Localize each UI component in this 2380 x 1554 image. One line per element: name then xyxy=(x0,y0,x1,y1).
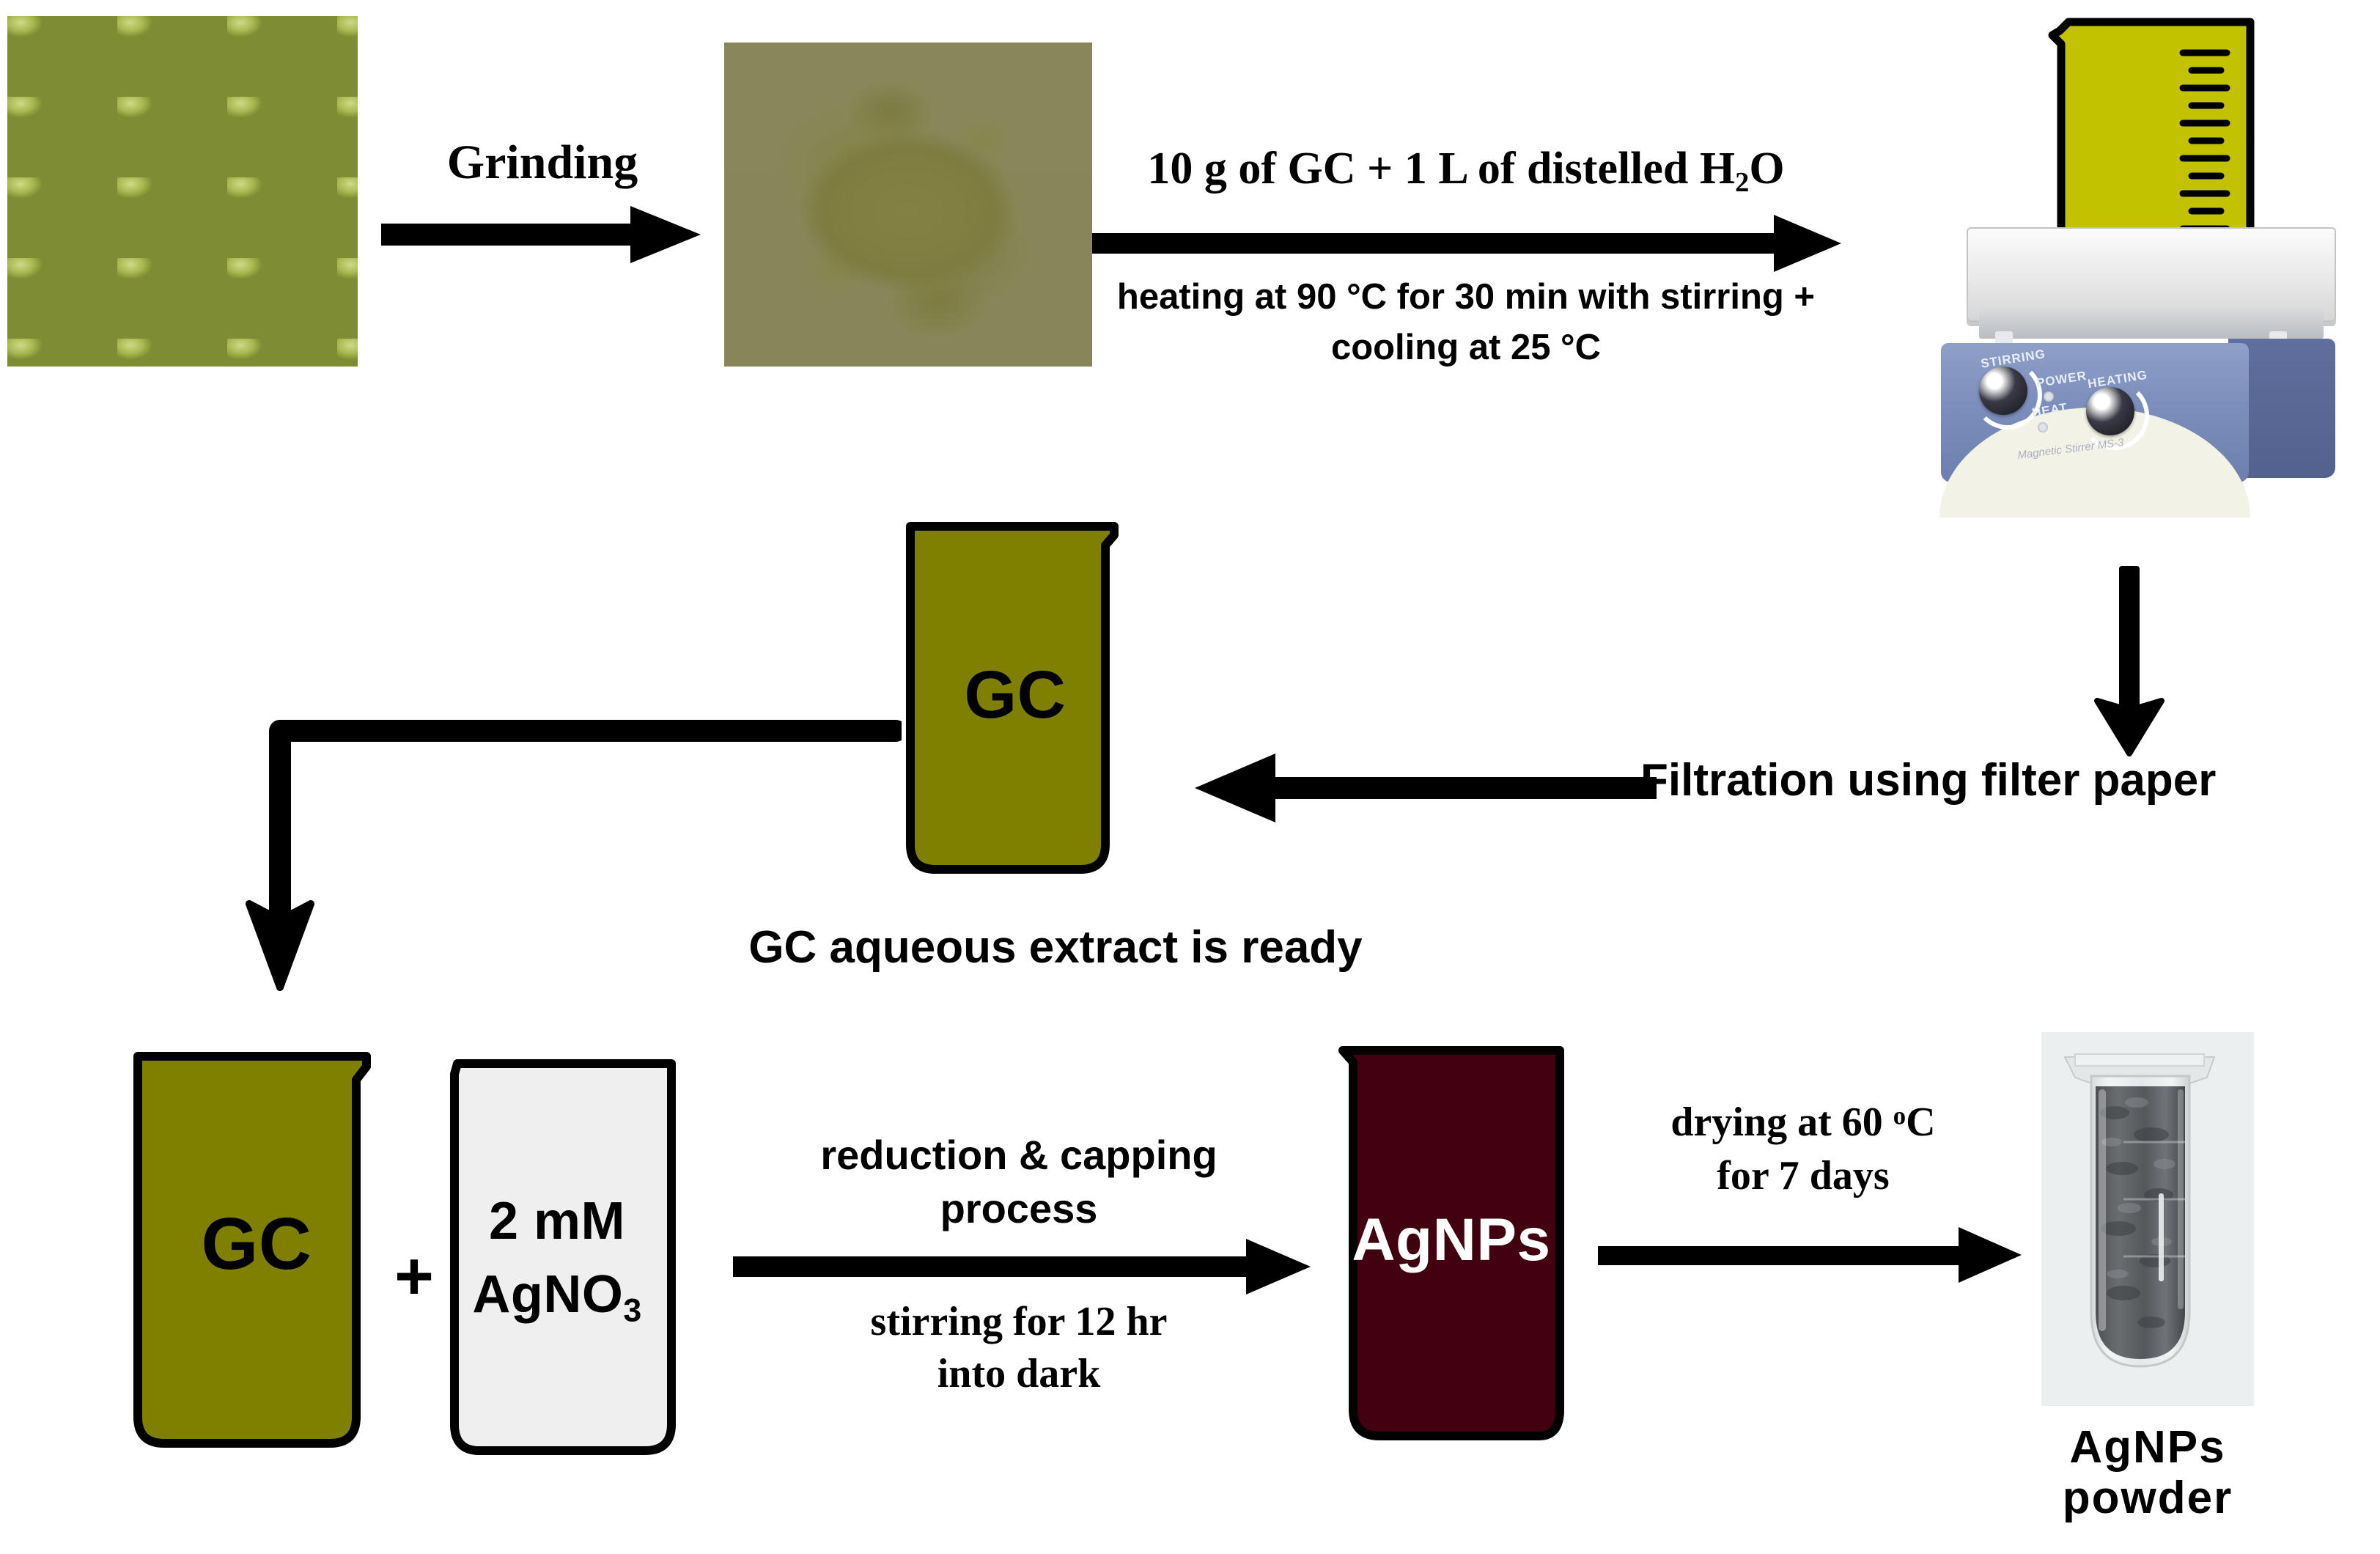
beaker-agno3: 2 mM AgNO3 xyxy=(425,1052,689,1462)
heat-led xyxy=(2038,422,2048,432)
grinding-arrow xyxy=(381,202,704,268)
extraction-label-above-tail: O xyxy=(1749,144,1784,194)
green-coffee-beans-photo xyxy=(7,16,358,367)
beaker-gc-reaction-label: GC xyxy=(125,1202,388,1286)
power-led xyxy=(2044,391,2054,402)
beaker-gc-reaction: GC xyxy=(125,1045,388,1455)
extraction-label-below: heating at 90 °C for 30 min with stirrin… xyxy=(1099,277,1832,368)
agnps-powder-caption: AgNPs powder xyxy=(2023,1422,2272,1524)
drying-arrow xyxy=(1598,1224,2023,1286)
extraction-label-above-sub: 2 xyxy=(1735,167,1749,198)
extract-to-reaction-connector xyxy=(242,715,902,1008)
drying-label-line2: for 7 days xyxy=(1598,1153,2008,1199)
beaker-agnps: AgNPs xyxy=(1327,1037,1576,1448)
drying-label-line1: drying at 60 oC xyxy=(1598,1100,2008,1146)
filtration-label-text: Filtration using filter paper xyxy=(1640,755,2373,806)
drying-label-line1-pre: drying at 60 xyxy=(1670,1100,1893,1145)
reduction-arrow xyxy=(733,1236,1312,1297)
extraction-label-above: 10 g of GC + 1 L of distelled H2O xyxy=(1114,144,1818,199)
agnps-powder-tube-photo xyxy=(2041,1032,2254,1406)
reduction-label-above: reduction & capping process xyxy=(770,1133,1268,1231)
green-coffee-powder-photo xyxy=(724,43,1092,367)
reduction-label-above-line1: reduction & capping xyxy=(770,1133,1268,1179)
hotplate-top-plate xyxy=(1967,227,2336,322)
drying-label-line1-post: C xyxy=(1906,1100,1935,1145)
extraction-label-above-text: 10 g of GC + 1 L of distelled H xyxy=(1147,144,1735,194)
powder-texture xyxy=(724,43,1092,367)
grinding-label: Grinding xyxy=(396,136,689,190)
beaker-agno3-label-line2: AgNO3 xyxy=(425,1264,689,1329)
process-flow-diagram: Grinding 10 g of GC + 1 L of distelled H… xyxy=(0,0,2380,1554)
reduction-label-above-line2: process xyxy=(770,1186,1268,1232)
extraction-arrow xyxy=(1092,211,1843,276)
beaker-gc-extract-label: GC xyxy=(894,657,1136,734)
grinding-label-text: Grinding xyxy=(396,136,689,190)
beaker-on-hotplate xyxy=(2039,6,2259,255)
beaker-agno3-formula: AgNO xyxy=(472,1265,623,1324)
beaker-gc-extract: GC xyxy=(894,513,1136,880)
reduction-label-below-line1: stirring for 12 hr xyxy=(770,1299,1268,1345)
agnps-powder-caption-line1: AgNPs xyxy=(2023,1422,2272,1473)
drying-label: drying at 60 oC for 7 days xyxy=(1598,1100,2008,1198)
reduction-label-below-line2: into dark xyxy=(770,1351,1268,1397)
filtration-arrow xyxy=(1187,748,1657,828)
extraction-label-below-line1: heating at 90 °C for 30 min with stirrin… xyxy=(1099,277,1832,317)
beaker-agnps-label: AgNPs xyxy=(1327,1206,1576,1275)
filtration-down-arrow xyxy=(2085,564,2173,759)
beaker-agno3-formula-sub: 3 xyxy=(623,1292,641,1328)
reduction-label-below: stirring for 12 hr into dark xyxy=(770,1299,1268,1396)
filtration-label: Filtration using filter paper xyxy=(1640,755,2373,806)
drying-label-degree: o xyxy=(1893,1101,1906,1130)
agnps-powder-caption-line2: powder xyxy=(2023,1473,2272,1523)
extraction-label-below-line2: cooling at 25 °C xyxy=(1099,328,1832,368)
beaker-agno3-label-line1: 2 mM xyxy=(425,1191,689,1251)
